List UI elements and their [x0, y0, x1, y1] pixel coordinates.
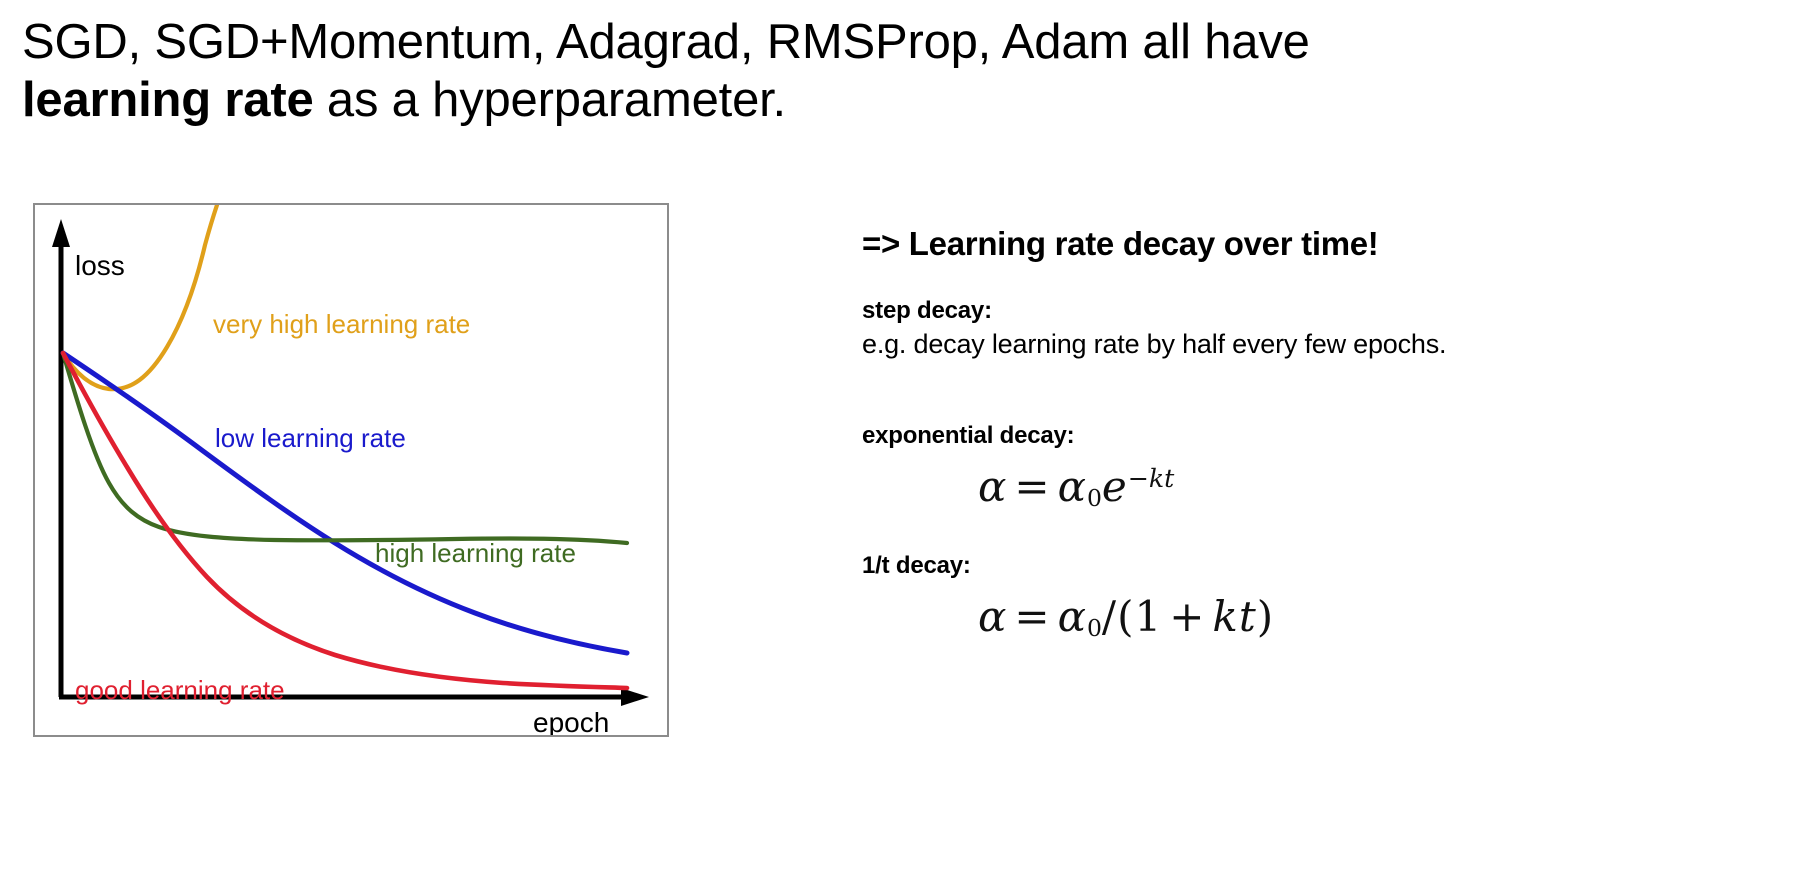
formula2-alpha0-subscript: 0	[1087, 614, 1102, 642]
formula2-alpha: α	[978, 592, 1007, 641]
learning-rate-loss-chart: loss epoch very high learning rate low l…	[33, 203, 669, 737]
formula2-slash: /	[1102, 592, 1117, 641]
formula-exponent: −kt	[1128, 464, 1175, 493]
formula-equals: =	[1007, 462, 1057, 511]
x-axis-label: epoch	[533, 707, 609, 735]
formula2-one: 1	[1134, 592, 1162, 641]
decay-explanation-panel: => Learning rate decay over time! step d…	[862, 225, 1792, 652]
title-emphasis-learning-rate: learning rate	[22, 73, 314, 127]
page-title: SGD, SGD+Momentum, Adagrad, RMSProp, Ada…	[22, 14, 1782, 130]
formula2-plus: +	[1162, 592, 1212, 641]
inverse-t-decay-formula: α=α0/(1+kt)	[978, 592, 1792, 642]
exponential-decay-section: exponential decay: α=α0e−kt	[862, 422, 1792, 512]
title-line-1: SGD, SGD+Momentum, Adagrad, RMSProp, Ada…	[22, 15, 1310, 69]
chart-svg: loss epoch very high learning rate low l…	[35, 205, 667, 735]
formula-alpha0-subscript: 0	[1087, 484, 1102, 512]
exponential-decay-formula: α=α0e−kt	[978, 462, 1792, 512]
formula2-open-paren: (	[1117, 592, 1134, 641]
formula2-equals: =	[1007, 592, 1057, 641]
annotation-good-learning-rate: good learning rate	[75, 675, 285, 705]
step-decay-label: step decay:	[862, 297, 1792, 325]
formula-alpha: α	[978, 462, 1007, 511]
decay-heading: => Learning rate decay over time!	[862, 225, 1792, 263]
annotation-low-learning-rate: low learning rate	[215, 423, 406, 453]
formula2-alpha0: α	[1058, 592, 1087, 641]
annotation-very-high-learning-rate: very high learning rate	[213, 309, 470, 339]
step-decay-section: step decay: e.g. decay learning rate by …	[862, 297, 1792, 360]
annotation-high-learning-rate: high learning rate	[375, 538, 576, 568]
spacer-2	[862, 522, 1792, 552]
formula-alpha0: α	[1058, 462, 1087, 511]
inverse-t-decay-label: 1/t decay:	[862, 552, 1792, 580]
spacer-1	[862, 370, 1792, 422]
formula2-kt: kt	[1212, 592, 1256, 641]
y-axis-label: loss	[75, 250, 125, 281]
exponential-decay-label: exponential decay:	[862, 422, 1792, 450]
inverse-t-decay-section: 1/t decay: α=α0/(1+kt)	[862, 552, 1792, 642]
step-decay-text: e.g. decay learning rate by half every f…	[862, 329, 1792, 360]
formula-e: e	[1102, 462, 1128, 511]
title-line-2-rest: as a hyperparameter.	[314, 73, 786, 127]
formula2-close-paren: )	[1257, 592, 1274, 641]
